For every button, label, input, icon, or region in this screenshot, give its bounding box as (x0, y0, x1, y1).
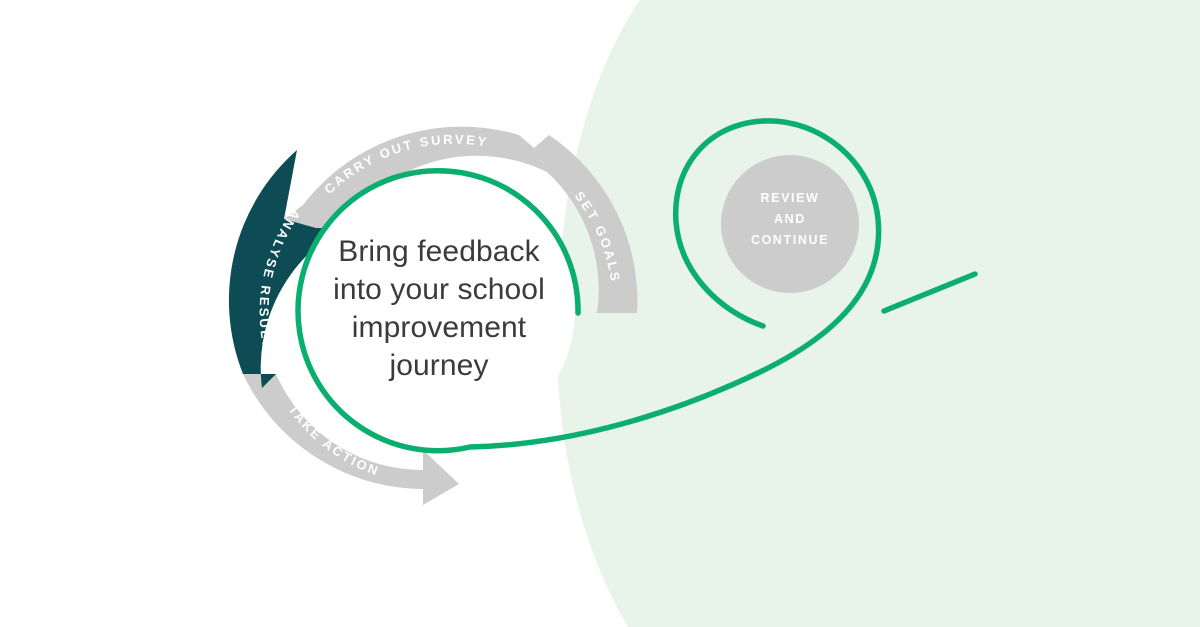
tint-blob (557, 0, 1200, 627)
diagram-canvas: CARRY OUT SURVEY SET GOALS TAKE ACTION A… (0, 0, 1200, 627)
cycle-inner-disc (301, 173, 575, 447)
review-node-disc[interactable] (721, 155, 859, 293)
diagram-svg: CARRY OUT SURVEY SET GOALS TAKE ACTION A… (0, 0, 1200, 627)
